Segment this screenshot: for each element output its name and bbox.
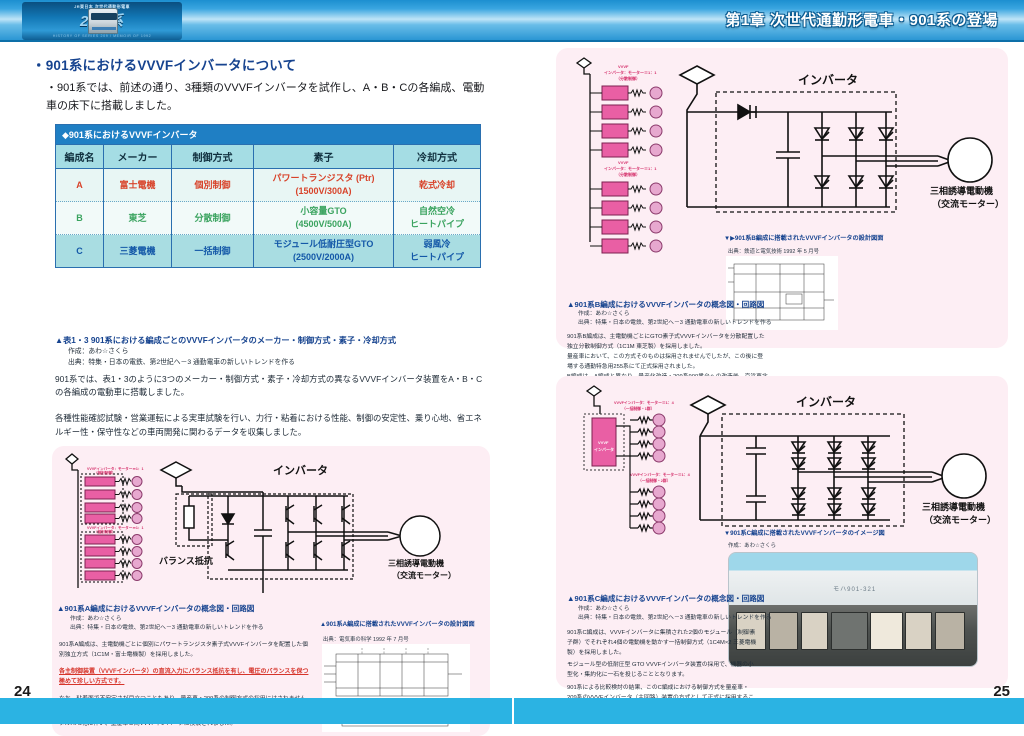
svg-text:（交流モーター）: （交流モーター）: [924, 514, 996, 525]
photo-car-number: モハ901-321: [833, 584, 876, 593]
svg-text:VVVF: VVVF: [618, 160, 629, 165]
col-header-device: 素子: [254, 145, 394, 169]
header-band: JR東日本 次世代通勤形電車 209系 HISTORY OF SERIES 20…: [0, 0, 1024, 42]
equipment-box: [905, 612, 932, 650]
col-header-cooling: 冷却方式: [394, 145, 481, 169]
magazine-spread: JR東日本 次世代通勤形電車 209系 HISTORY OF SERIES 20…: [0, 0, 1024, 724]
inverter-table: ◆901系におけるVVVFインバータ 編成名 メーカー 制御方式 素子 冷却方式…: [55, 124, 481, 268]
right-page: VVVF インバータ：モーター＝1：1 （分散制御） VVVF インバータ：モー…: [512, 42, 1024, 698]
train-icon: [88, 8, 118, 34]
table-row: B 東芝 分散制御 小容量GTO (4500V/500A) 自然空冷 ヒートパイ…: [56, 202, 481, 235]
cell-maker: 富士電機: [104, 169, 172, 202]
cell-cooling-line2: ヒートパイプ: [396, 218, 478, 231]
figure-a-caption: ▲901系A編成におけるVVVFインバータの概念図・回路図: [57, 604, 327, 615]
svg-text:（一括制御・2群）: （一括制御・2群）: [638, 478, 671, 483]
table-row: C 三菱電機 一括制御 モジュール低耐圧型GTO (2500V/2000A) 弱…: [56, 235, 481, 268]
body-paragraph-1: 901系では、表1・3のように3つのメーカー・制御方式・素子・冷却方式の異なるV…: [55, 373, 485, 400]
cell-control: 一括制御: [172, 235, 254, 268]
col-header-name: 編成名: [56, 145, 104, 169]
svg-text:三相誘導電動機: 三相誘導電動機: [922, 501, 985, 512]
photo-credit: 作成：あわ☆さくら: [728, 541, 776, 549]
cell-cooling: 乾式冷却: [394, 169, 481, 202]
figure-c-body-2: モジュール型の低耐圧型 GTO VVVFインバータ装置の採用で、機器の小型化・集…: [567, 660, 757, 680]
label-inverter-b: インバータ: [798, 73, 858, 87]
cell-device-line2: (1500V/300A): [256, 185, 391, 198]
figure-b-body-1: 901系B編成は、主電動機ごとにGTO素子式VVVFインバータを分散配置した独立…: [567, 332, 767, 352]
cell-device: 小容量GTO (4500V/500A): [254, 202, 394, 235]
figure-c-credit: 作成：あわ☆さくら 出典：特集・日本の電鉄、第2世紀へ－3 通勤電車の新しいトレ…: [578, 605, 828, 624]
circuit-diagram-b: VVVF インバータ：モーター＝1：1 （分散制御） VVVF インバータ：モー…: [560, 52, 1000, 257]
inverter-table-wrap: ◆901系におけるVVVFインバータ 編成名 メーカー 制御方式 素子 冷却方式…: [55, 124, 480, 268]
equipment-plate: [831, 612, 868, 650]
cell-name: B: [56, 202, 104, 235]
svg-text:（交流モーター）: （交流モーター）: [932, 198, 1000, 209]
cell-cooling-line1: 自然空冷: [396, 205, 478, 218]
svg-text:（交流モーター）: （交流モーター）: [392, 570, 456, 580]
page-title: ・901系におけるVVVFインバータについて: [32, 54, 296, 74]
table-header-row: 編成名 メーカー 制御方式 素子 冷却方式: [56, 145, 481, 169]
circuit-diagram-a: VVVFインバータ：モーター＝1：1 （個別制御） VVVFインバータ：モーター…: [58, 448, 488, 598]
svg-text:（分散制御）: （分散制御）: [616, 75, 640, 81]
cell-cooling: 弱風冷 ヒートパイプ: [394, 235, 481, 268]
table-row: A 富士電機 個別制御 パワートランジスタ (Ptr) (1500V/300A)…: [56, 169, 481, 202]
cell-device-line1: 小容量GTO: [256, 205, 391, 218]
svg-text:インバータ：モーター＝1：1: インバータ：モーター＝1：1: [604, 69, 657, 75]
equipment-inverter: [870, 612, 902, 650]
cell-device-line1: パワートランジスタ (Ptr): [256, 172, 391, 185]
inset-b-credit: 出典：鉄道と電気技術 1992 年 5 月号: [728, 247, 819, 255]
inset-a-caption: ▲901系A編成に搭載されたVVVFインバータの設計図面: [320, 620, 480, 629]
cell-device-line2: (2500V/2000A): [256, 251, 391, 264]
cell-cooling-line2: ヒートパイプ: [396, 251, 478, 264]
col-header-control: 制御方式: [172, 145, 254, 169]
svg-text:VVVF: VVVF: [598, 440, 609, 445]
label-inverter-a: インバータ: [273, 464, 328, 477]
figure-b-credit: 作成：あわ☆さくら 出典：特集・日本の電鉄、第2世紀へ－3 通勤電車の新しいトレ…: [578, 310, 828, 329]
svg-text:三相誘導電動機: 三相誘導電動機: [930, 185, 993, 196]
table-title: ◆901系におけるVVVFインバータ: [55, 124, 481, 144]
cell-device: モジュール低耐圧型GTO (2500V/2000A): [254, 235, 394, 268]
inset-a-credit: 出典：電気車の科学 1992 年 7 月号: [323, 635, 409, 643]
chapter-title: 第1章 次世代通勤形電車・901系の登場: [725, 9, 998, 30]
cell-maker: 三菱電機: [104, 235, 172, 268]
svg-text:インバータ: インバータ: [594, 446, 614, 452]
cell-device: パワートランジスタ (Ptr) (1500V/300A): [254, 169, 394, 202]
cell-device-line1: モジュール低耐圧型GTO: [256, 238, 391, 251]
cell-control: 個別制御: [172, 169, 254, 202]
figure-c-body-1: 901系C編成は、VVVFインバータに集積された2個のモジュール（制御素子群）で…: [567, 628, 757, 658]
svg-text:（一括制御・1群）: （一括制御・1群）: [622, 406, 655, 411]
equipment-box: [935, 612, 965, 650]
cell-cooling: 自然空冷 ヒートパイプ: [394, 202, 481, 235]
cell-maker: 東芝: [104, 202, 172, 235]
left-page: ・901系におけるVVVFインバータについて ・901系では、前述の通り、3種類…: [0, 42, 512, 698]
figure-a-credit: 作成：あわ☆さくら 出典：特集・日本の電鉄、第2世紀へ－3 通勤電車の新しいトレ…: [70, 615, 340, 634]
table-figure-caption: ▲表1・3 901系における編成ごとのVVVFインバータのメーカー・制御方式・素…: [55, 335, 485, 347]
cell-control: 分散制御: [172, 202, 254, 235]
cell-cooling-line1: 弱風冷: [396, 238, 478, 251]
table-credit: 作成：あわ☆さくら 出典：特集・日本の電鉄、第2世紀へ－3 通勤電車の新しいトレ…: [68, 347, 488, 368]
cell-name: A: [56, 169, 104, 202]
svg-text:（分散制御）: （分散制御）: [616, 171, 640, 177]
svg-text:VVVFインバータ：モーター＝1：4: VVVFインバータ：モーター＝1：4: [630, 472, 691, 477]
logo-subtitle: HISTORY OF SERIES 209 / MEMOIR OF 1992: [22, 34, 182, 38]
label-inverter-c: インバータ: [796, 395, 856, 409]
svg-text:VVVF: VVVF: [618, 64, 629, 69]
footer-band: [0, 698, 1024, 724]
photo-caption: ▼901系C編成に搭載されたVVVFインバータのイメージ図: [724, 529, 964, 538]
svg-text:（個別制御）: （個別制御）: [94, 470, 116, 475]
figure-a-body-1: 901系A編成は、主電動機ごとに個別にパワートランジスタ素子式VVVFインバータ…: [59, 640, 311, 660]
lead-paragraph: ・901系では、前述の通り、3種類のVVVFインバータを試作し、A・B・Cの各編…: [46, 80, 494, 115]
col-header-maker: メーカー: [104, 145, 172, 169]
svg-text:三相誘導電動機: 三相誘導電動機: [388, 558, 444, 568]
body-paragraph-2: 各種性能確認試験・営業運転による実車試験を行い、力行・粘着における性能、制御の安…: [55, 412, 485, 440]
cell-device-line2: (4500V/500A): [256, 218, 391, 231]
label-balance-resistor: バランス抵抗: [159, 555, 213, 566]
inset-b-caption: ▼▶901系B編成に搭載されたVVVFインバータの設計図面: [724, 234, 944, 243]
figure-a-body-red: 各主制御装置（VVVFインバータ）の直流入力にバランス抵抗を有し、電圧のバランス…: [59, 667, 311, 687]
svg-text:VVVFインバータ：モーター＝1：4: VVVFインバータ：モーター＝1：4: [614, 400, 675, 405]
circuit-diagram-c: VVVFインバータ：モーター＝1：4 （一括制御・1群） VVVFインバータ：モ…: [560, 380, 1000, 550]
svg-text:（個別制御）: （個別制御）: [94, 529, 116, 534]
figure-b-body-2: 量産車において、この方式そのものは採用されませんでしたが、この後に登場する通勤特…: [567, 352, 767, 372]
cell-name: C: [56, 235, 104, 268]
publication-logo: JR東日本 次世代通勤形電車 209系 HISTORY OF SERIES 20…: [22, 2, 182, 40]
figure-c-caption: ▲901系C編成におけるVVVFインバータの概念図・回路図: [567, 594, 817, 605]
svg-text:インバータ：モーター＝1：1: インバータ：モーター＝1：1: [604, 165, 657, 171]
